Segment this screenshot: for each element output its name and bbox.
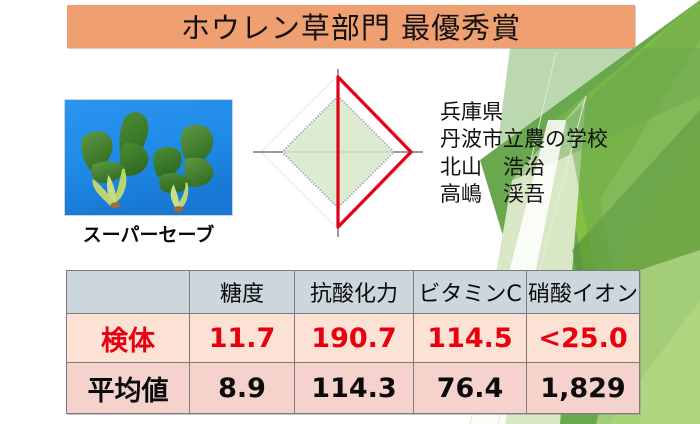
page-title: ホウレン草部門 最優秀賞 xyxy=(67,5,635,47)
results-table: 糖度 抗酸化力 ビタミンC 硝酸イオン 検体 11.7 190.7 114.5 … xyxy=(66,270,640,414)
radar-chart-svg xyxy=(243,57,433,247)
spinach-photo xyxy=(64,99,233,216)
table-header-blank xyxy=(67,271,190,314)
spinach-photo-caption: スーパーセーブ xyxy=(64,220,233,247)
sample-sugar-value: 11.7 xyxy=(190,314,295,363)
info-line-prefecture: 兵庫県 xyxy=(440,99,608,126)
slide-root: ホウレン草部門 最優秀賞 xyxy=(0,0,700,424)
average-vitamin-c-value: 76.4 xyxy=(414,363,527,414)
spinach-photo-image xyxy=(65,100,232,215)
radar-chart xyxy=(243,57,433,247)
sample-row-label: 検体 xyxy=(67,314,190,363)
average-nitrate-value: 1,829 xyxy=(527,363,640,414)
sample-antioxidant-value: 190.7 xyxy=(295,314,414,363)
info-line-school: 丹波市立農の学校 xyxy=(440,126,608,153)
sample-vitamin-c-value: 114.5 xyxy=(414,314,527,363)
table-row: 検体 11.7 190.7 114.5 <25.0 xyxy=(67,314,640,363)
average-sugar-value: 8.9 xyxy=(190,363,295,414)
average-row-label: 平均値 xyxy=(67,363,190,414)
table-header-antioxidant: 抗酸化力 xyxy=(295,271,414,314)
info-line-person-2: 高嶋 渓吾 xyxy=(440,181,608,208)
table-header-vitamin-c: ビタミンC xyxy=(414,271,527,314)
info-line-person-1: 北山 浩治 xyxy=(440,154,608,181)
entrant-info: 兵庫県 丹波市立農の学校 北山 浩治 高嶋 渓吾 xyxy=(440,99,608,208)
table-header-row: 糖度 抗酸化力 ビタミンC 硝酸イオン xyxy=(67,271,640,314)
table-header-nitrate: 硝酸イオン xyxy=(527,271,640,314)
table-header-sugar: 糖度 xyxy=(190,271,295,314)
average-antioxidant-value: 114.3 xyxy=(295,363,414,414)
sample-nitrate-value: <25.0 xyxy=(527,314,640,363)
table-row: 平均値 8.9 114.3 76.4 1,829 xyxy=(67,363,640,414)
title-banner: ホウレン草部門 最優秀賞 xyxy=(67,5,635,48)
